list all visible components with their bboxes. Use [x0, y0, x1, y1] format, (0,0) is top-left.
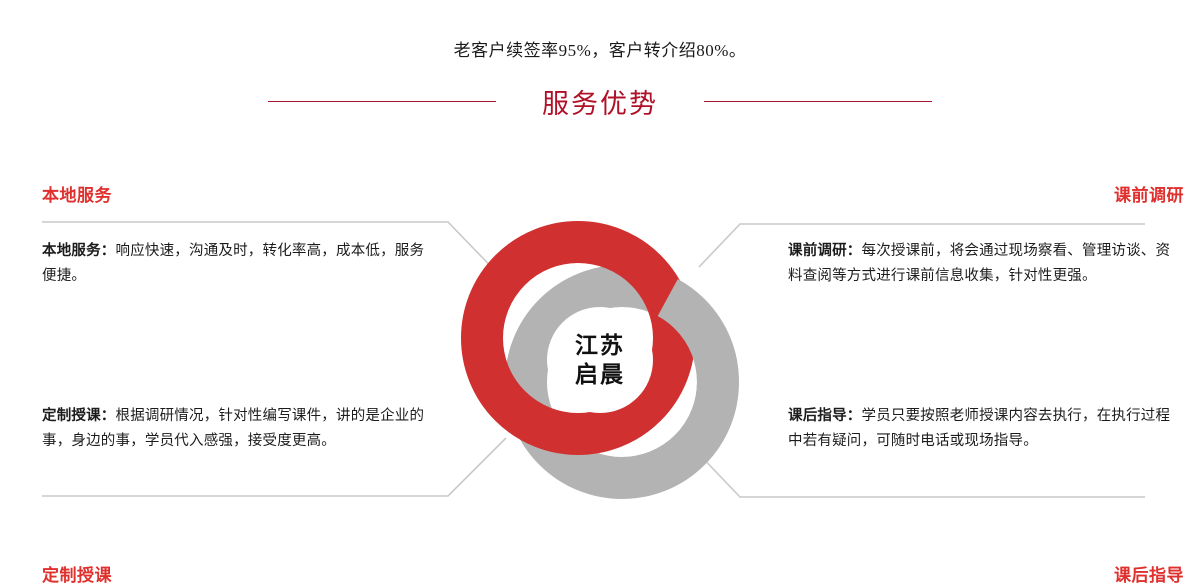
section-title: 服务优势 [542, 82, 658, 121]
quadrant-body-label-pre-class-research: 课前调研： [788, 243, 862, 259]
quadrant-body-label-custom-teaching: 定制授课： [42, 408, 116, 424]
quadrant-body-local-service: 本地服务：响应快速，沟通及时，转化率高，成本低，服务便捷。 [42, 239, 438, 289]
slide-canvas: 老客户续签率95%，客户转介绍80%。 服务优势 [0, 0, 1200, 555]
quadrant-heading-custom-teaching: 定制授课 [42, 566, 438, 586]
quadrant-top-right: 课前调研 课前调研：每次授课前，将会通过现场察看、管理访谈、资料查阅等方式进行课… [788, 186, 1184, 289]
quadrant-body-pre-class-research: 课前调研：每次授课前，将会通过现场察看、管理访谈、资料查阅等方式进行课前信息收集… [788, 239, 1184, 289]
interlocking-rings-graphic: 江苏 启晨 [460, 220, 740, 500]
quadrant-heading-post-class-guidance: 课后指导 [788, 566, 1184, 586]
quadrant-bottom-left: 定制授课：根据调研情况，针对性编写课件，讲的是企业的事，身边的事，学员代入感强，… [42, 404, 438, 586]
quadrant-body-post-class-guidance: 课后指导：学员只要按照老师授课内容去执行，在执行过程中若有疑问，可随时电话或现场… [788, 404, 1184, 454]
quadrant-bottom-right: 课后指导：学员只要按照老师授课内容去执行，在执行过程中若有疑问，可随时电话或现场… [788, 404, 1184, 586]
quadrant-body-custom-teaching: 定制授课：根据调研情况，针对性编写课件，讲的是企业的事，身边的事，学员代入感强，… [42, 404, 438, 454]
tagline: 老客户续签率95%，客户转介绍80%。 [0, 36, 1200, 61]
rings-svg [460, 220, 740, 500]
ring-core [547, 307, 653, 413]
title-rule-right [704, 101, 932, 102]
title-rule-left [268, 101, 496, 102]
quadrant-body-label-local-service: 本地服务： [42, 243, 116, 259]
quadrant-heading-local-service: 本地服务 [42, 186, 438, 206]
quadrant-heading-pre-class-research: 课前调研 [788, 186, 1184, 206]
quadrant-body-label-post-class-guidance: 课后指导： [788, 408, 862, 424]
section-title-row: 服务优势 [0, 82, 1200, 121]
quadrant-top-left: 本地服务 本地服务：响应快速，沟通及时，转化率高，成本低，服务便捷。 [42, 186, 438, 289]
